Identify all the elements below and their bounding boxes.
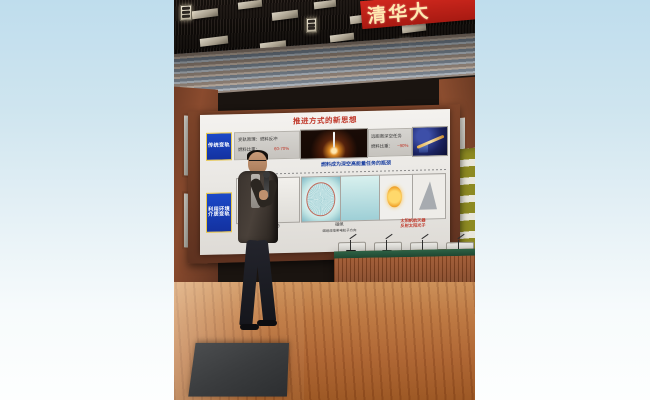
slide-category-environmental: 利用环境介质变轨 bbox=[206, 192, 232, 233]
presenter-legs bbox=[242, 240, 276, 334]
caption-magnetic-sail: 磁帆 磁场改变带电粒子方向 bbox=[301, 221, 378, 234]
ceiling-panel bbox=[238, 0, 262, 10]
presenter bbox=[230, 152, 286, 347]
ceiling-panel bbox=[314, 0, 336, 9]
magnetic-field-ring bbox=[306, 182, 335, 216]
slide-left-line1: 变轨原理：燃料反冲 bbox=[238, 136, 278, 144]
rocket-launch-photo bbox=[300, 128, 368, 160]
presenter-front-shoe bbox=[257, 320, 277, 326]
slide-right-line1: 远距离深空任务 bbox=[371, 133, 402, 140]
slide-category-traditional: 传统变轨 bbox=[206, 132, 232, 161]
solar-sail-diagram bbox=[412, 173, 446, 220]
caption-solar-sail-line2: 反射太阳光子 bbox=[400, 223, 425, 229]
ceiling-light-fixture bbox=[180, 4, 192, 21]
slide-category-traditional-label: 传统变轨 bbox=[208, 144, 230, 150]
slide-right-line2: 燃料比重： bbox=[371, 143, 393, 150]
screenshot-canvas: 清华大 推进方式的新思想 传统变轨 利用环境介质变轨 变轨原理：燃料反冲 bbox=[0, 0, 650, 400]
presenter-glasses bbox=[249, 160, 266, 164]
ceiling-panel bbox=[192, 8, 218, 19]
ceiling-light-fixture bbox=[306, 17, 317, 33]
sun-icon bbox=[379, 174, 413, 221]
slide-middle-band: 燃料成为深空高能量任务的瓶颈 bbox=[276, 158, 436, 169]
magnetic-sail-diagram bbox=[301, 176, 341, 223]
ceiling-panel bbox=[272, 10, 298, 21]
slide-category-environmental-label: 利用环境介质变轨 bbox=[207, 207, 231, 218]
presenter-hand bbox=[259, 190, 268, 200]
auditorium-photo: 清华大 推进方式的新思想 传统变轨 利用环境介质变轨 变轨原理：燃料反冲 bbox=[174, 0, 475, 400]
ceiling-panel bbox=[200, 35, 228, 46]
magnetic-sail-diagram-2 bbox=[340, 175, 380, 222]
caption-solar-sail: 太阳帆航天器 反射太阳光子 bbox=[382, 217, 444, 229]
caption-magnetic-sail-sub: 磁场改变带电粒子方向 bbox=[301, 227, 378, 234]
presenter-front-leg bbox=[255, 240, 277, 323]
presenter-back-shoe bbox=[240, 324, 259, 330]
caption-magnetic-sail-main: 磁帆 bbox=[335, 222, 343, 227]
deep-space-probe-photo bbox=[412, 126, 448, 157]
stage-riser-platform bbox=[188, 343, 289, 397]
slide-right-value: ~90% bbox=[397, 143, 408, 150]
